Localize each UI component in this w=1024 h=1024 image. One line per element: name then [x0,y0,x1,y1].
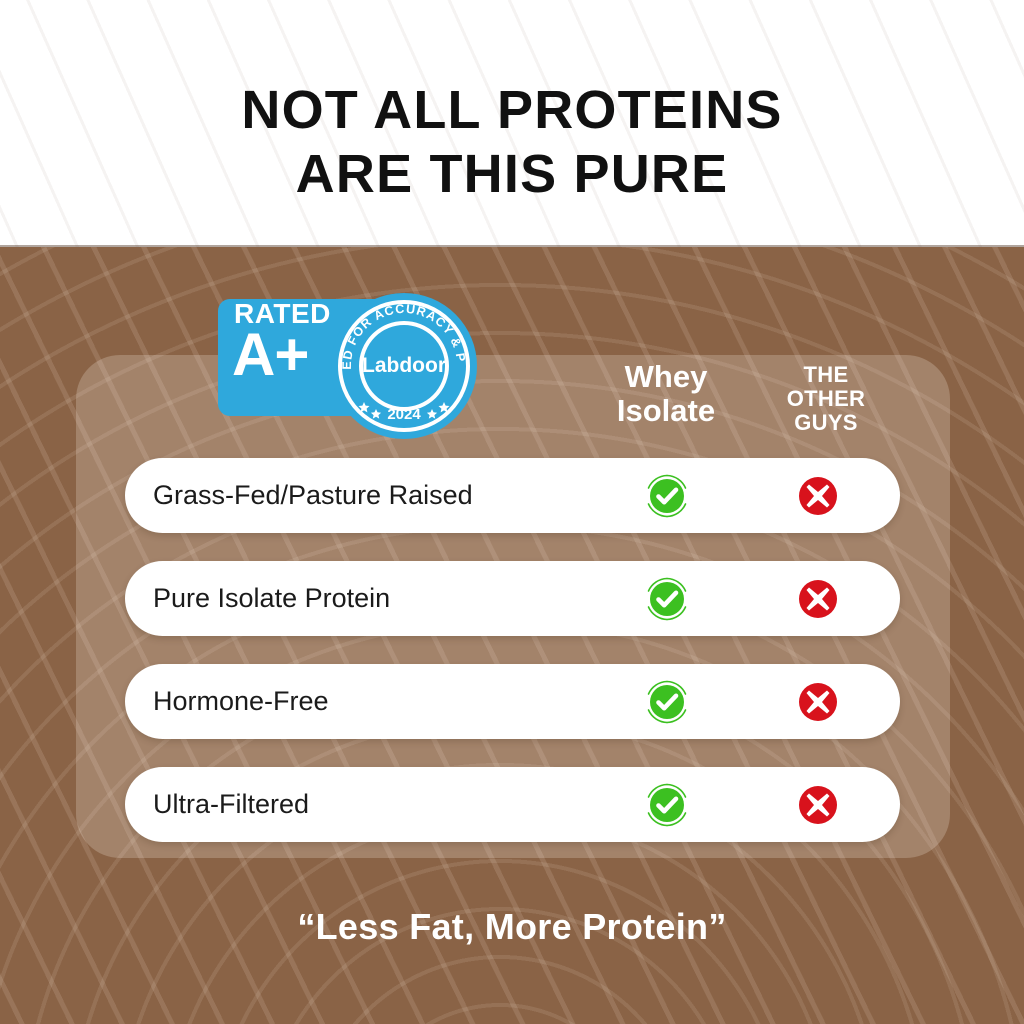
comparison-rows: Grass-Fed/Pasture Raised Pure Isolate Pr… [125,458,900,870]
column-header-others-line-2: OTHER [762,387,890,411]
footer-tagline: “Less Fat, More Protein” [0,906,1024,948]
cross-icon [793,677,843,727]
check-icon [642,677,692,727]
check-icon [642,471,692,521]
column-header-whey-line-2: Isolate [578,394,754,428]
table-row: Grass-Fed/Pasture Raised [125,458,900,533]
page-title: NOT ALL PROTEINS ARE THIS PURE [0,78,1024,207]
table-row: Hormone-Free [125,664,900,739]
seal-brand-text: Labdoor [362,354,446,377]
column-header-others-line-3: GUYS [762,411,890,435]
labdoor-seal-icon: TESTED FOR ACCURACY & PURITY Labdoor 202… [330,292,478,440]
infographic-root: NOT ALL PROTEINS ARE THIS PURE RATED A+ … [0,0,1024,1024]
check-icon [642,780,692,830]
column-header-whey-isolate: Whey Isolate [578,360,754,428]
check-icon [642,574,692,624]
table-row: Ultra-Filtered [125,767,900,842]
row-label: Pure Isolate Protein [153,561,390,636]
table-row: Pure Isolate Protein [125,561,900,636]
headline-line-1: NOT ALL PROTEINS [0,78,1024,142]
column-header-other-guys: THE OTHER GUYS [762,363,890,436]
cross-icon [793,574,843,624]
column-header-others-line-1: THE [762,363,890,387]
row-label: Grass-Fed/Pasture Raised [153,458,473,533]
column-header-whey-line-1: Whey [578,360,754,394]
cross-icon [793,471,843,521]
labdoor-rating-badge: RATED A+ TESTED FOR ACCURACY & PURITY La… [218,292,486,440]
row-label: Hormone-Free [153,664,329,739]
cross-icon [793,780,843,830]
row-label: Ultra-Filtered [153,767,309,842]
seal-year-text: 2024 [387,406,421,423]
headline-line-2: ARE THIS PURE [0,142,1024,206]
